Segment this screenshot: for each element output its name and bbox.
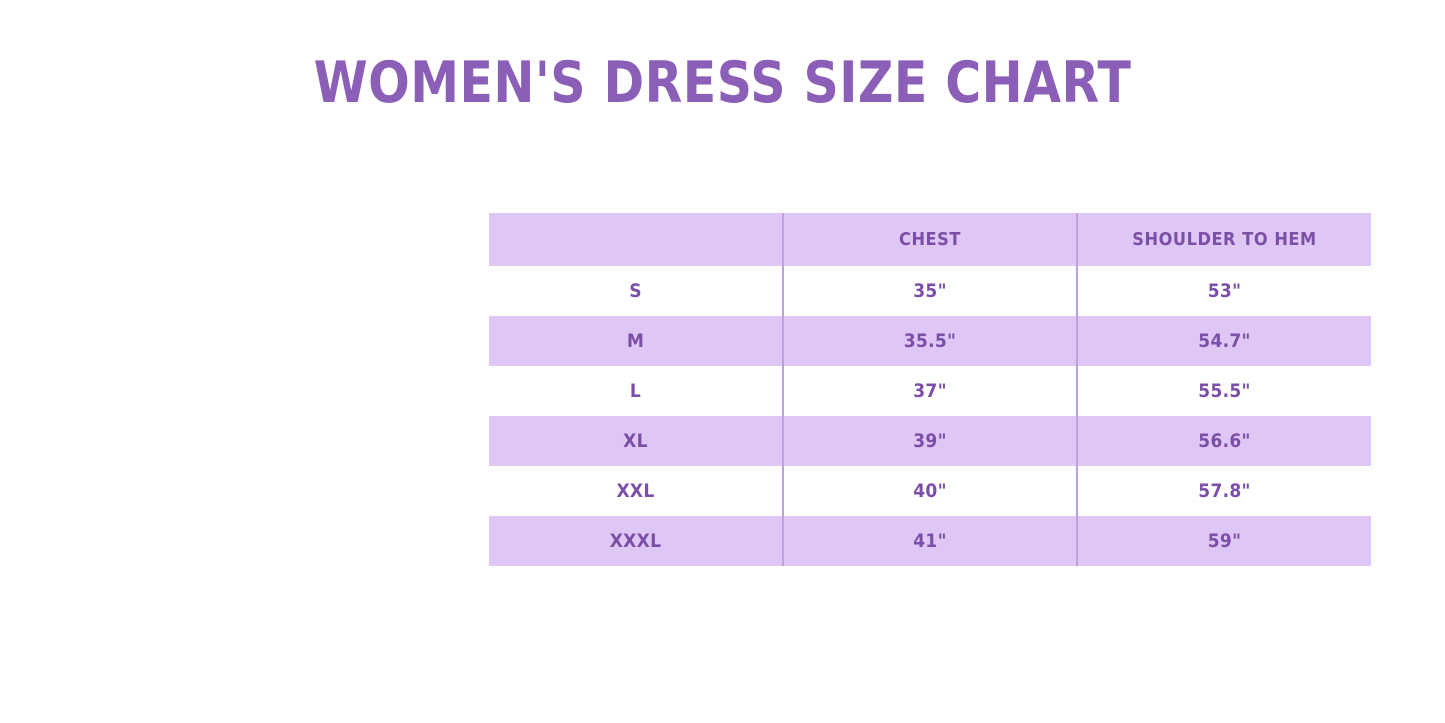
cell-shoulder-to-hem: 53"	[1077, 266, 1371, 316]
cell-size: XXXL	[489, 516, 783, 566]
page-title: WOMEN'S DRESS SIZE CHART	[101, 52, 1344, 114]
cell-chest-value: 35"	[799, 280, 1062, 302]
cell-shoulder-to-hem: 55.5"	[1077, 366, 1371, 416]
table-row: XXL 40" 57.8"	[489, 466, 1371, 516]
cell-size: XL	[489, 416, 783, 466]
column-header-shoulder-to-hem: SHOULDER TO HEM	[1077, 213, 1371, 266]
column-header-chest: CHEST	[783, 213, 1077, 266]
cell-chest: 40"	[783, 466, 1077, 516]
cell-shoulder-to-hem-value: 53"	[1093, 280, 1357, 302]
cell-size-value: XXXL	[504, 530, 768, 552]
cell-size: S	[489, 266, 783, 316]
column-header-size	[489, 213, 783, 266]
cell-size-value: S	[504, 280, 768, 302]
cell-shoulder-to-hem: 56.6"	[1077, 416, 1371, 466]
table-row: L 37" 55.5"	[489, 366, 1371, 416]
cell-shoulder-to-hem: 59"	[1077, 516, 1371, 566]
cell-size-value: M	[504, 330, 768, 352]
table-row: XXXL 41" 59"	[489, 516, 1371, 566]
cell-size: XXL	[489, 466, 783, 516]
cell-chest-value: 41"	[799, 530, 1062, 552]
table-header: CHEST SHOULDER TO HEM	[489, 213, 1371, 266]
size-chart-page: WOMEN'S DRESS SIZE CHART CHEST SHOULDER …	[0, 0, 1445, 723]
cell-shoulder-to-hem: 57.8"	[1077, 466, 1371, 516]
cell-chest-value: 37"	[799, 380, 1062, 402]
cell-shoulder-to-hem-value: 54.7"	[1093, 330, 1357, 352]
cell-shoulder-to-hem: 54.7"	[1077, 316, 1371, 366]
cell-size: L	[489, 366, 783, 416]
cell-chest-value: 35.5"	[799, 330, 1062, 352]
cell-chest-value: 40"	[799, 480, 1062, 502]
cell-shoulder-to-hem-value: 55.5"	[1093, 380, 1357, 402]
cell-shoulder-to-hem-value: 56.6"	[1093, 430, 1357, 452]
table-row: M 35.5" 54.7"	[489, 316, 1371, 366]
table-row: XL 39" 56.6"	[489, 416, 1371, 466]
cell-chest: 35"	[783, 266, 1077, 316]
cell-size-value: XXL	[504, 480, 768, 502]
cell-chest: 39"	[783, 416, 1077, 466]
cell-chest-value: 39"	[799, 430, 1062, 452]
cell-chest: 37"	[783, 366, 1077, 416]
cell-size-value: XL	[504, 430, 768, 452]
column-header-shoulder-to-hem-label: SHOULDER TO HEM	[1093, 229, 1357, 250]
cell-size: M	[489, 316, 783, 366]
cell-chest: 35.5"	[783, 316, 1077, 366]
table-header-row: CHEST SHOULDER TO HEM	[489, 213, 1371, 266]
size-chart-table: CHEST SHOULDER TO HEM S 35" 53"	[489, 213, 1371, 566]
table-row: S 35" 53"	[489, 266, 1371, 316]
column-header-chest-label: CHEST	[799, 229, 1062, 250]
table-body: S 35" 53" M 35.5" 54.7"	[489, 266, 1371, 566]
cell-size-value: L	[504, 380, 768, 402]
cell-shoulder-to-hem-value: 57.8"	[1093, 480, 1357, 502]
cell-shoulder-to-hem-value: 59"	[1093, 530, 1357, 552]
cell-chest: 41"	[783, 516, 1077, 566]
